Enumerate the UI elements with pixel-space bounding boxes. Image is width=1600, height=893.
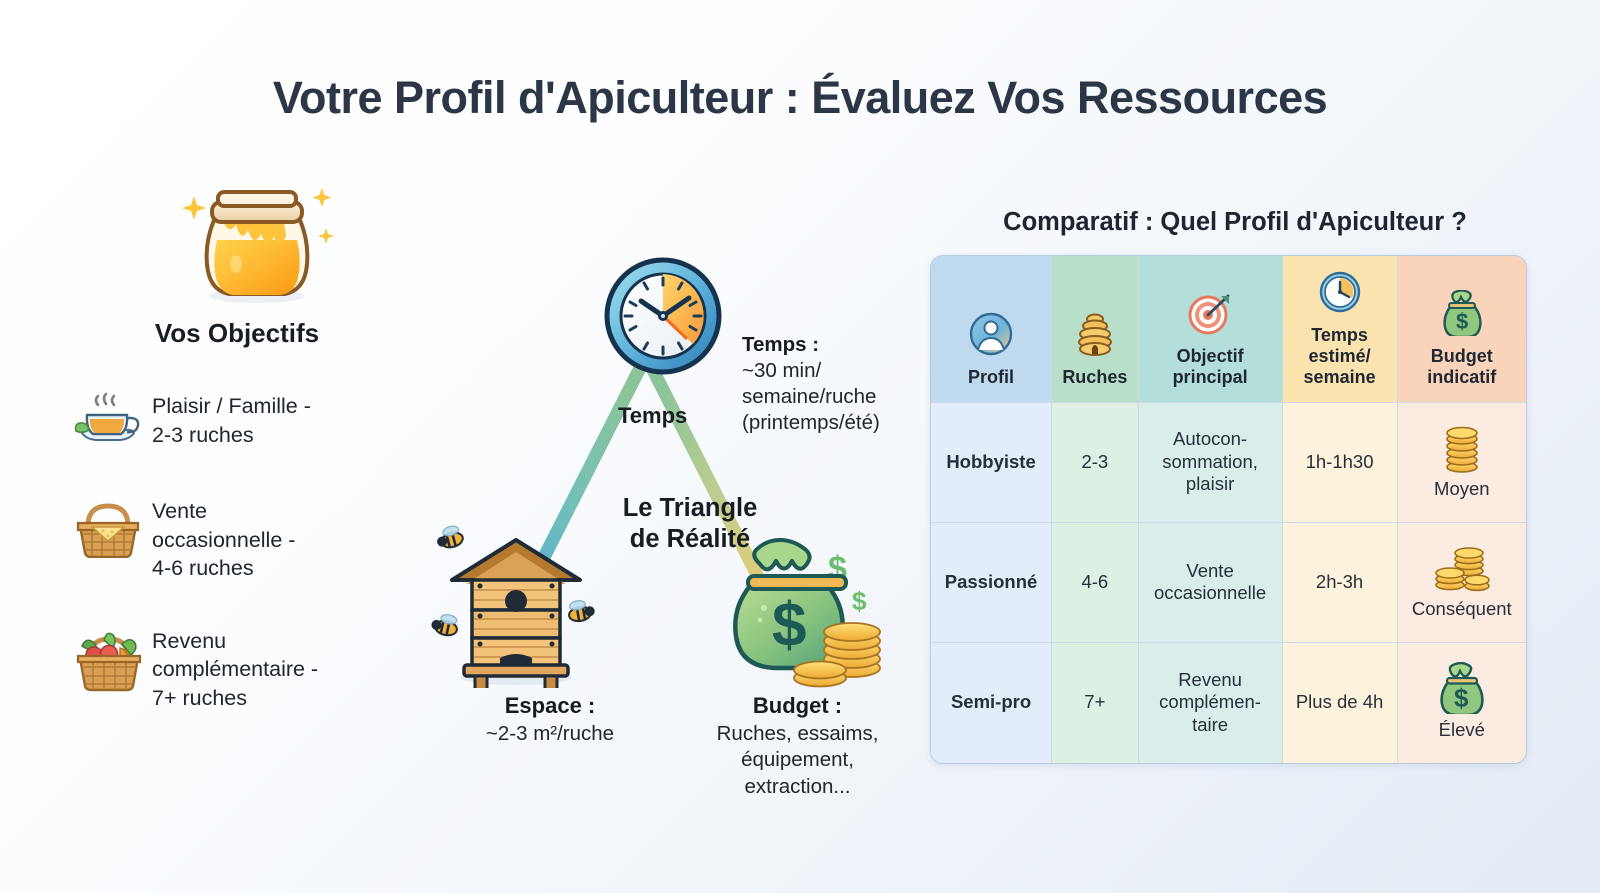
coin-stack-triple-icon [1433, 543, 1491, 593]
comparison-title: Comparatif : Quel Profil d'Apiculteur ? [930, 208, 1540, 237]
beehive-illustration [428, 518, 603, 693]
list-item-label: Vente occasionnelle - 4-6 ruches [152, 496, 295, 583]
vegetable-basket-icon [72, 626, 152, 688]
target-icon [1143, 289, 1278, 337]
svg-text:$: $ [1456, 309, 1468, 334]
column-header-budget: $ Budget indicatif [1398, 256, 1526, 403]
svg-text:$: $ [852, 586, 867, 616]
beehive-icon [428, 518, 603, 688]
cell-profil: Passionné [931, 523, 1052, 643]
cell-objectif: Autocon- sommation, plaisir [1139, 403, 1283, 523]
clock-icon [603, 256, 723, 376]
cell-budget-label: Élevé [1439, 719, 1485, 742]
cell-budget-label: Conséquent [1412, 598, 1512, 621]
money-bag-icon: $ [1402, 289, 1522, 337]
time-label: Temps : [742, 332, 880, 358]
cell-budget: Moyen [1398, 403, 1526, 523]
table-header-row: Profil [931, 256, 1526, 403]
space-label: Espace : [435, 692, 665, 721]
cell-objectif: Vente occasionnelle [1139, 523, 1283, 643]
budget-line-2: équipement, [741, 748, 854, 771]
comparison-panel: Comparatif : Quel Profil d'Apiculteur ? [930, 208, 1550, 764]
beehive-icon [1056, 310, 1134, 358]
cell-ruches: 7+ [1052, 643, 1139, 763]
list-item-label: Revenu complémentaire - 7+ ruches [152, 626, 318, 713]
table-row: Semi-pro 7+ Revenu complémen- taire Plus… [931, 643, 1526, 763]
budget-line-1: Ruches, essaims, [717, 722, 879, 745]
money-illustration: $ $ $ $ $ [720, 528, 895, 693]
column-header-ruches: Ruches [1052, 256, 1139, 403]
comparison-table: Profil [930, 255, 1527, 764]
list-item-label: Plaisir / Famille - 2-3 ruches [152, 391, 311, 449]
cell-temps: 1h-1h30 [1283, 403, 1398, 523]
cell-budget: Conséquent [1398, 523, 1526, 643]
cell-profil: Semi-pro [931, 643, 1052, 763]
time-line-3: (printemps/été) [742, 411, 880, 434]
honey-jar-icon [172, 168, 342, 308]
money-bag-icon: $ $ $ $ $ [720, 528, 895, 688]
column-header-label: Objectif principal [1173, 346, 1248, 387]
column-header-temps: Temps estimé/ semaine [1283, 256, 1398, 403]
column-header-label: Ruches [1062, 367, 1127, 387]
basket-icon [72, 496, 152, 558]
objectives-heading: Vos Objectifs [72, 318, 402, 349]
cell-budget: $ Élevé [1398, 643, 1526, 763]
column-header-profil: Profil [931, 256, 1052, 403]
budget-line-3: extraction... [745, 775, 851, 798]
space-description: Espace : ~2-3 m²/ruche [435, 692, 665, 747]
cell-budget-label: Moyen [1434, 478, 1490, 501]
column-header-label: Profil [968, 367, 1014, 387]
cell-temps: Plus de 4h [1283, 643, 1398, 763]
column-header-objectif: Objectif principal [1139, 256, 1283, 403]
table-row: Passionné 4-6 Vente occasionnelle 2h-3h [931, 523, 1526, 643]
column-header-label: Budget indicatif [1427, 346, 1496, 387]
svg-text:$: $ [1454, 683, 1469, 713]
cell-temps: 2h-3h [1283, 523, 1398, 643]
column-header-label: Temps estimé/ semaine [1304, 325, 1376, 387]
triangle-vertex-time-label: Temps [618, 403, 687, 429]
time-line-2: semaine/ruche [742, 385, 876, 408]
cell-ruches: 4-6 [1052, 523, 1139, 643]
clock-icon [1287, 268, 1393, 316]
clock-illustration [603, 256, 723, 381]
page-title: Votre Profil d'Apiculteur : Évaluez Vos … [0, 72, 1600, 124]
reality-triangle-diagram: Temps Temps : ~30 min/ semaine/ruche (pr… [390, 250, 930, 830]
cell-objectif: Revenu complémen- taire [1139, 643, 1283, 763]
money-bag-icon: $ [1438, 664, 1486, 714]
budget-description: Budget : Ruches, essaims, équipement, ex… [690, 692, 905, 801]
infographic-canvas: Votre Profil d'Apiculteur : Évaluez Vos … [0, 0, 1600, 893]
svg-text:$: $ [772, 591, 806, 660]
tea-cup-icon [72, 391, 152, 453]
space-line-1: ~2-3 m²/ruche [486, 722, 614, 745]
table-row: Hobbyiste 2-3 Autocon- sommation, plaisi… [931, 403, 1526, 523]
time-line-1: ~30 min/ [742, 359, 821, 382]
coin-stack-single-icon [1441, 423, 1483, 473]
budget-label: Budget : [690, 692, 905, 721]
user-avatar-icon [935, 310, 1047, 358]
cell-profil: Hobbyiste [931, 403, 1052, 523]
cell-ruches: 2-3 [1052, 403, 1139, 523]
time-description: Temps : ~30 min/ semaine/ruche (printemp… [742, 332, 880, 436]
